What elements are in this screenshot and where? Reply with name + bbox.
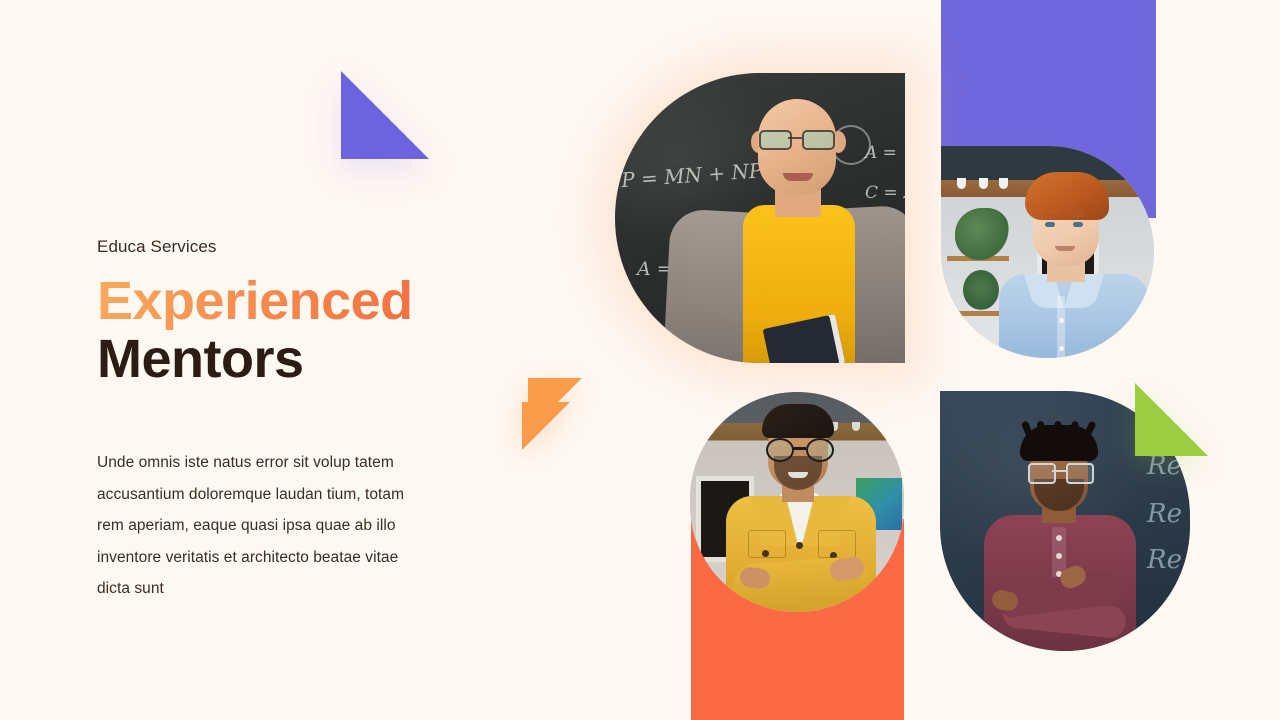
denim-guy-glasses-icon xyxy=(764,438,834,458)
teacher-mouth xyxy=(783,173,813,181)
redhead-mouth xyxy=(1055,246,1075,251)
page-title: Experienced Mentors xyxy=(97,272,497,388)
redhead-hair xyxy=(1025,172,1109,220)
triangle-purple-icon xyxy=(341,71,429,159)
dreadlocks-glasses-icon xyxy=(1028,463,1092,480)
studio-lamp-1 xyxy=(957,178,966,189)
blue-chalk-text-2: Re xyxy=(1147,499,1182,529)
studio-background xyxy=(941,146,1154,358)
triangle-orange-upper-icon xyxy=(528,378,582,432)
denim-pocket-right xyxy=(818,530,856,558)
chalkboard-background: P = MN + NP + PM A = b×h REC A = C = 2 A… xyxy=(615,73,905,363)
redhead-shirt-button-2 xyxy=(1059,346,1064,351)
dreadlocks-henley-button-1 xyxy=(1056,535,1062,541)
denim-button-3 xyxy=(796,542,803,549)
studio-lamp-3 xyxy=(999,178,1008,189)
triangle-green-icon xyxy=(1135,383,1208,456)
dreadlock-strand-5 xyxy=(1082,420,1097,439)
loft-lamp-3 xyxy=(852,422,860,431)
headline-group: Educa Services Experienced Mentors xyxy=(97,236,497,388)
mentor-photo-top-right xyxy=(941,146,1154,358)
chalk-formula-5: C = 2 xyxy=(865,183,905,203)
mentor-photo-main: P = MN + NP + PM A = b×h REC A = C = 2 A… xyxy=(615,73,905,363)
mentor-photo-bottom-center xyxy=(690,392,904,612)
redhead-eye-left xyxy=(1045,222,1055,227)
denim-guy-smile xyxy=(788,472,808,478)
loft-background xyxy=(690,392,904,612)
teacher-glasses-icon xyxy=(757,130,837,146)
dreadlock-strand-3 xyxy=(1053,421,1061,439)
dreadlocks-henley-button-2 xyxy=(1056,553,1062,559)
redhead-brow-right xyxy=(1072,214,1085,217)
slide-canvas: P = MN + NP + PM A = b×h REC A = C = 2 A… xyxy=(0,0,1280,720)
headline-accent-line: Experienced xyxy=(97,272,497,330)
studio-plant-lower xyxy=(963,270,999,310)
body-paragraph: Unde omnis iste natus error sit volup ta… xyxy=(97,447,427,605)
blue-chalk-text-3: Re xyxy=(1147,545,1182,575)
denim-guy-hair xyxy=(762,404,834,438)
studio-lamp-2 xyxy=(979,178,988,189)
denim-button-1 xyxy=(762,550,769,557)
redhead-shirt-button-1 xyxy=(1059,318,1064,323)
studio-plant-upper xyxy=(955,208,1009,260)
eyebrow-label: Educa Services xyxy=(97,236,497,258)
redhead-brow-left xyxy=(1043,214,1056,217)
redhead-eye-right xyxy=(1073,222,1083,227)
headline-plain-line: Mentors xyxy=(97,330,497,388)
